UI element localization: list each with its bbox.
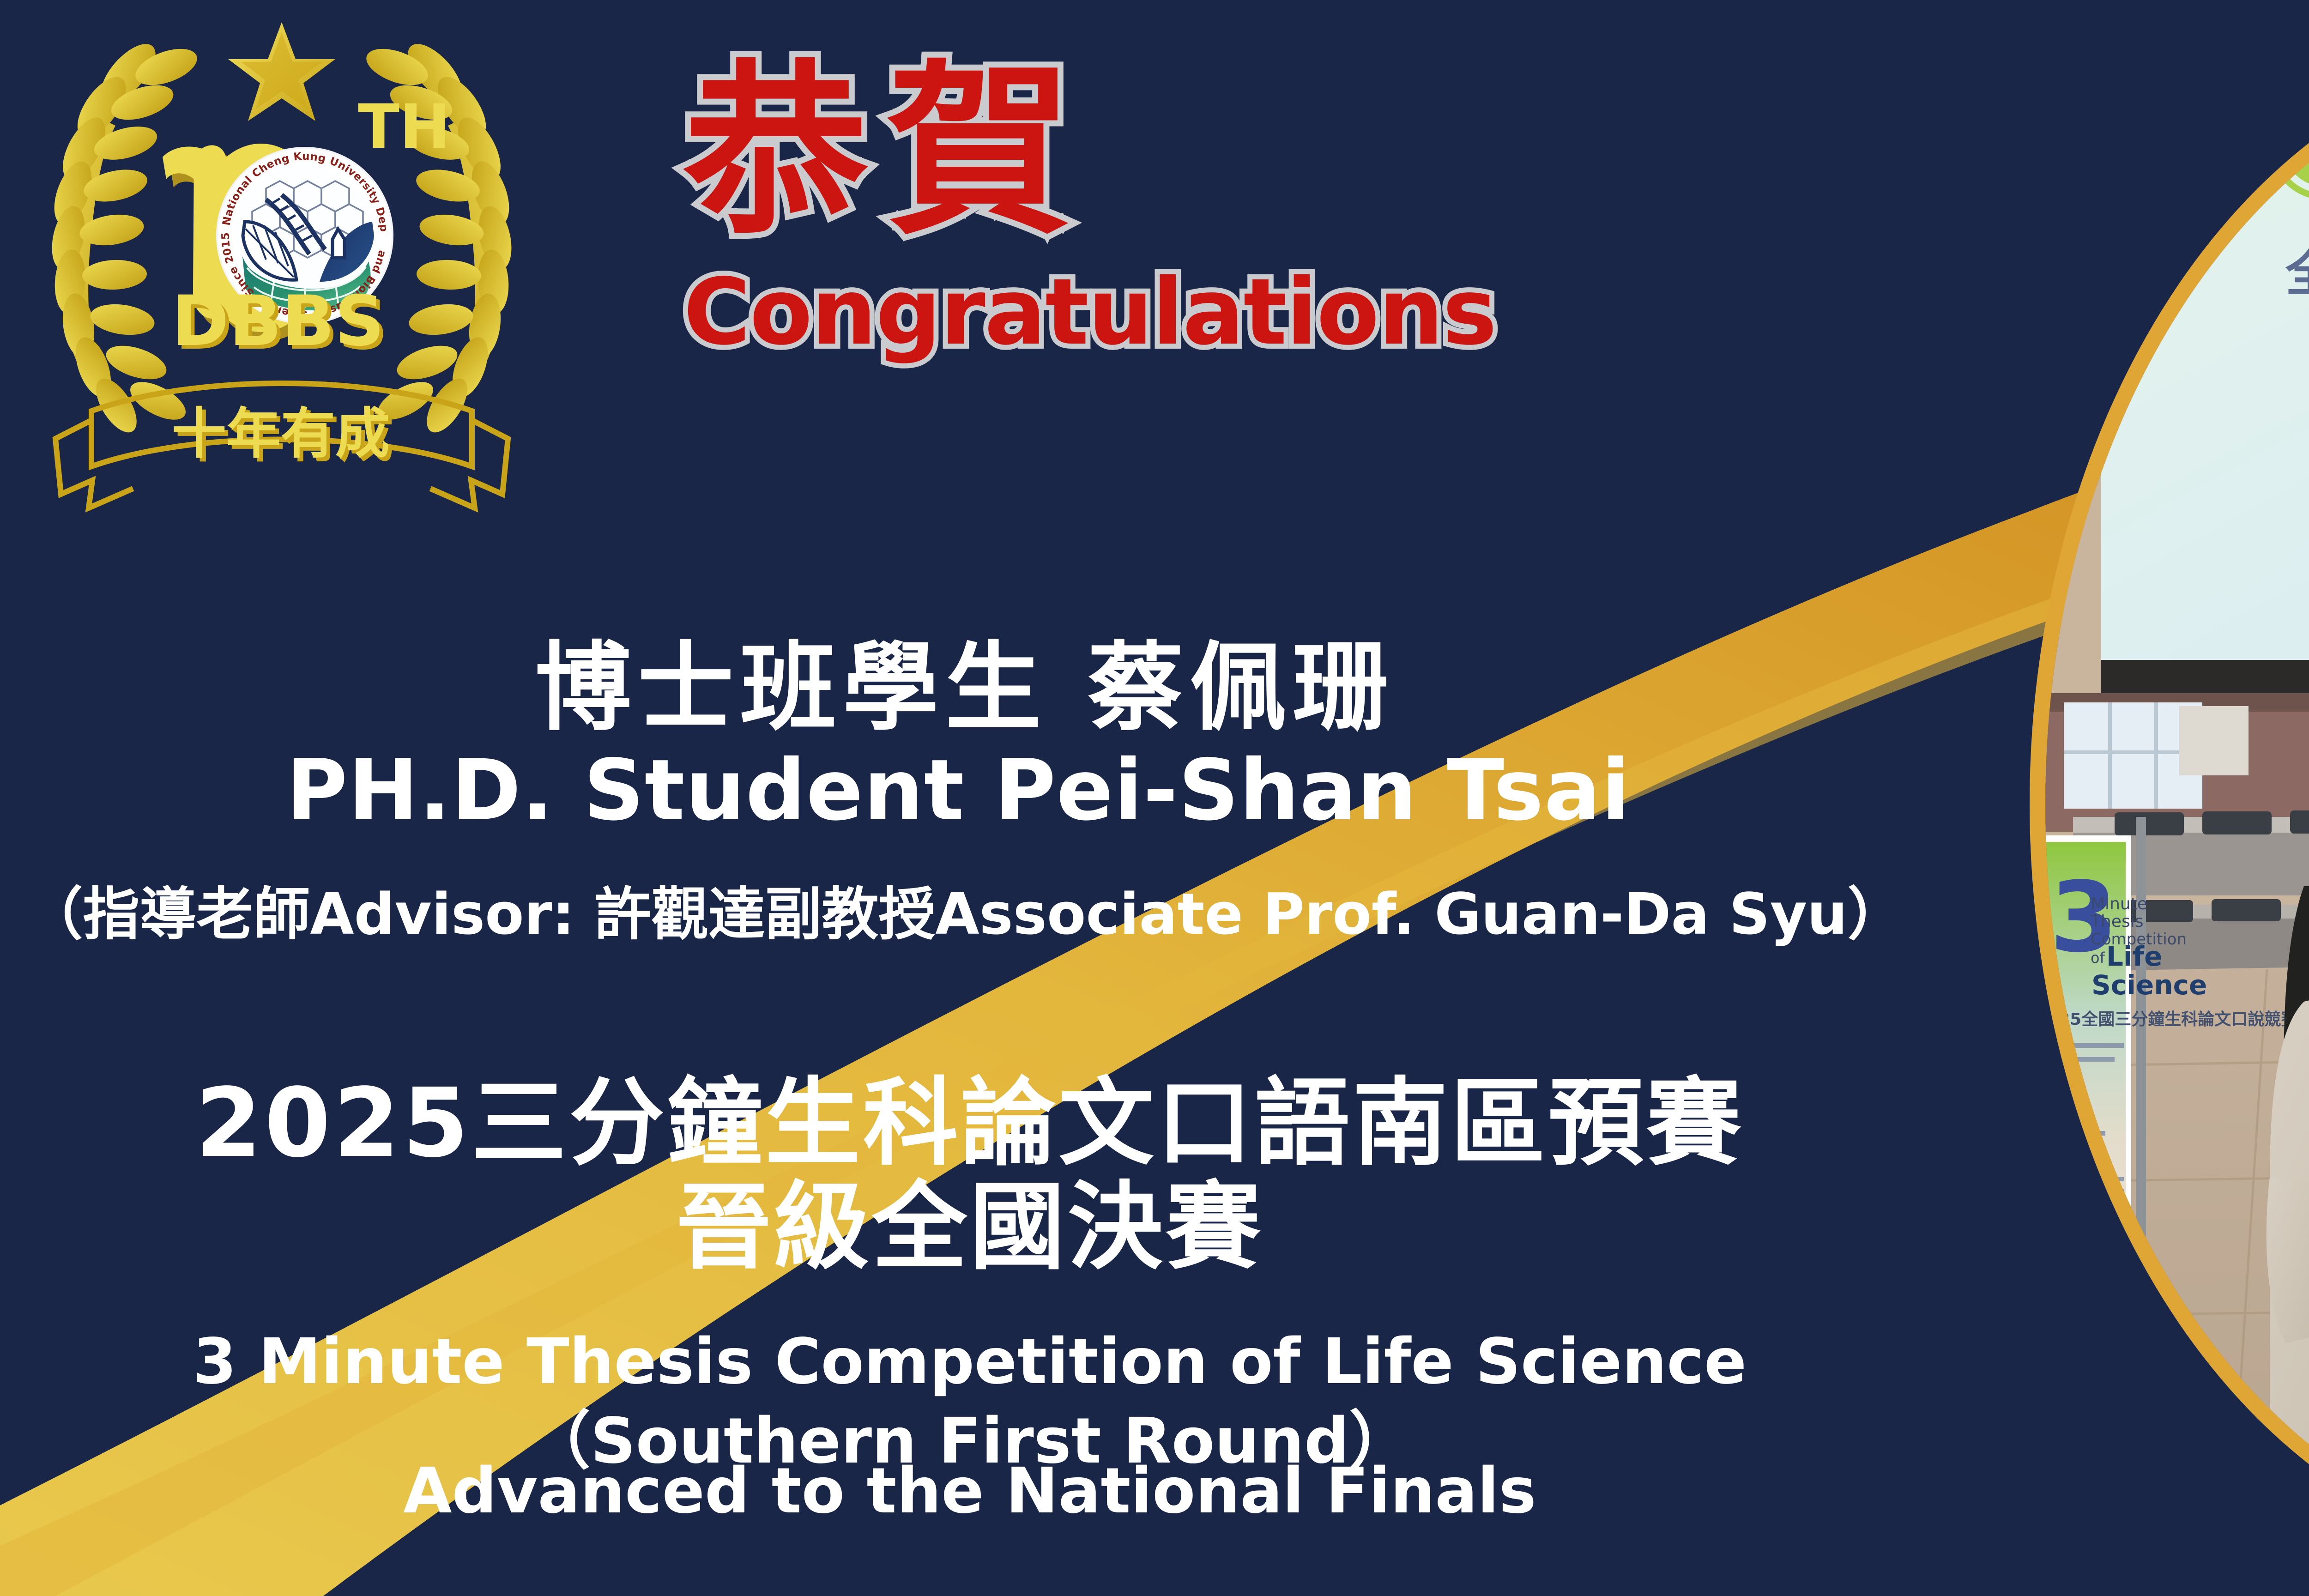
poster-line-1: Minute xyxy=(2091,895,2147,913)
award-ceremony-photo: 2 5 全國三分鐘生科論文口說競賽 講評及頒獎 講評及頒獎 CASOS xyxy=(2045,60,2309,1548)
emblem-ribbon-text: 十年有成 xyxy=(172,402,390,465)
poster-chinese-title: 2025全國三分鐘生科論文口說競賽 xyxy=(2045,1010,2297,1029)
laurel-left-icon xyxy=(47,35,202,439)
star-icon xyxy=(228,22,335,121)
poster-line-4: of xyxy=(2091,949,2105,967)
emblem-th-label: TH xyxy=(358,91,451,163)
screen-title: 全國三分鐘生科論文口說競賽 xyxy=(2285,245,2309,302)
poster-line-6: Science xyxy=(2091,969,2207,1001)
award-photo-frame: 2 5 全國三分鐘生科論文口說競賽 講評及頒獎 講評及頒獎 CASOS xyxy=(2030,44,2309,1563)
anniversary-emblem: TH xyxy=(9,5,554,550)
poster-line-5: Life xyxy=(2106,941,2162,972)
photo-gold-ring: 2 5 全國三分鐘生科論文口說競賽 講評及頒獎 講評及頒獎 CASOS xyxy=(2030,44,2309,1563)
emblem-dbbs-label-face: DBBS xyxy=(171,281,384,362)
poster-line-2: Thesis xyxy=(2090,912,2143,931)
